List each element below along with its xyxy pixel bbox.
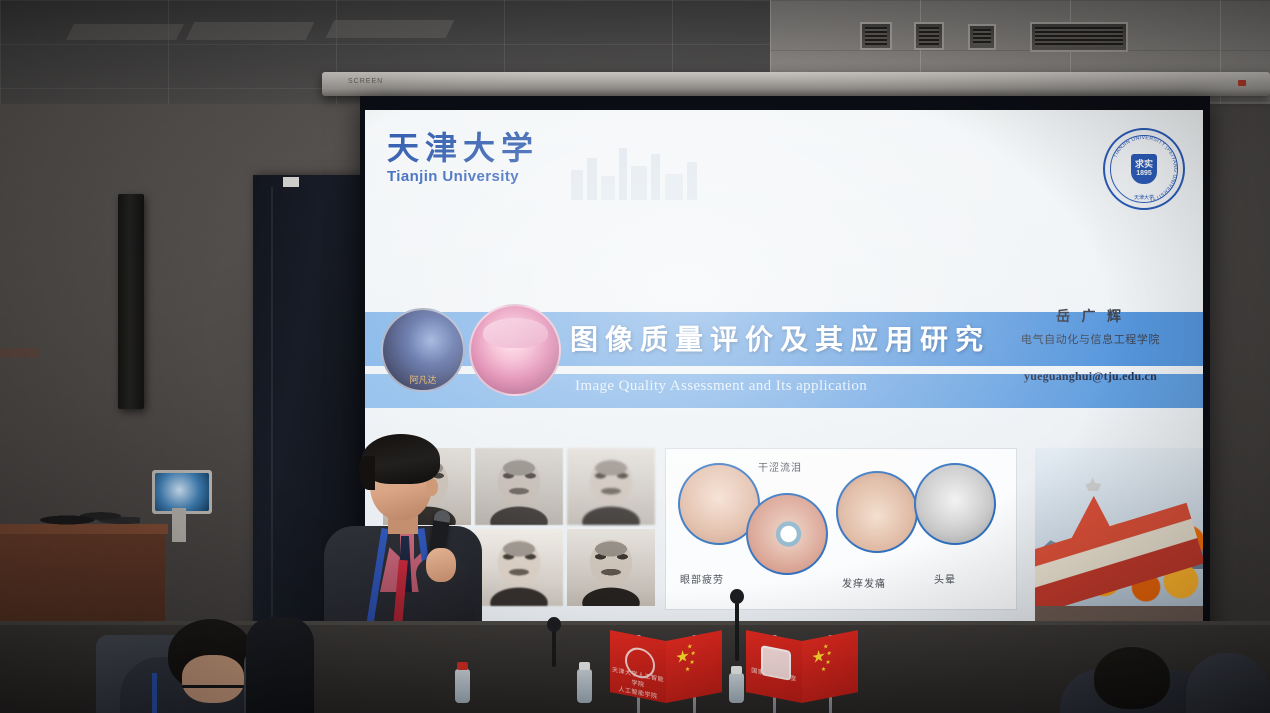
housing-indicator (1238, 80, 1246, 86)
campus-skyline-watermark (565, 140, 715, 200)
campus-roof-photo (1035, 448, 1203, 632)
audience-member-right-edge (246, 617, 314, 713)
person-hair (362, 434, 440, 484)
table-microphone-right (552, 627, 556, 667)
flag-text: 天津大学人工智能学院 人工智能学院 (610, 666, 666, 704)
eye-symptom-panel: 眼部疲劳 干涩流泪 发痒发痛 头晕 (665, 448, 1017, 610)
presenter-email: yueguanghui@tju.edu.cn (1003, 369, 1178, 384)
microphone-head (730, 589, 744, 604)
flag-star-small (821, 666, 826, 672)
desk-flag-national-1 (664, 635, 724, 713)
ceiling-vent-1 (860, 22, 892, 50)
flag-star-large (812, 649, 825, 665)
ceiling-vent-2 (914, 22, 944, 50)
wall-mark (0, 348, 40, 358)
podium-cables (36, 508, 140, 528)
svg-text:TIANJIN UNIVERSITY (PEIYANG UN: TIANJIN UNIVERSITY (PEIYANG UNIVERSITY) (1112, 135, 1178, 202)
flag-star-small (826, 659, 831, 665)
symptom-image-itching-pain (836, 471, 918, 553)
symptom-image-dizziness (914, 463, 996, 545)
flag-star-small (690, 659, 695, 665)
water-bottle-right (729, 673, 744, 703)
flag-cloth (802, 630, 858, 703)
audience-shoulders (246, 617, 314, 713)
desk-flag-institution-2: 国家重点实验室 (744, 635, 804, 713)
projection-screen-surface: 天津大学 Tianjin University TIANJIN UNIVERSI… (365, 110, 1203, 632)
university-logo: 天津大学 Tianjin University (387, 132, 539, 185)
slide-title-cn: 图像质量评价及其应用研究 (570, 318, 1020, 360)
desk-flag-national-2 (800, 635, 860, 713)
slide-title-en: Image Quality Assessment and Its applica… (575, 378, 1035, 395)
einstein-cell (475, 448, 563, 525)
flag-cloth: 国家重点实验室 (746, 630, 802, 703)
university-seal: TIANJIN UNIVERSITY (PEIYANG UNIVERSITY) … (1103, 128, 1185, 210)
flag-star-small (827, 650, 832, 656)
thumbnail-lena (469, 304, 561, 396)
einstein-cell (567, 529, 655, 606)
desk-flag-institution-1: 天津大学人工智能学院 人工智能学院 (608, 635, 668, 713)
ceiling-air-diffuser (1030, 22, 1128, 52)
panel-clip (283, 177, 299, 187)
presenter-block: 岳 广 辉 电气自动化与信息工程学院 yueguanghui@tju.edu.c… (1003, 306, 1178, 384)
ceiling-vent-3 (968, 24, 996, 50)
symptom-label-4: 头晕 (934, 571, 956, 586)
water-bottle-center (577, 669, 592, 703)
university-name-en: Tianjin University (387, 168, 539, 185)
flag-star-small (685, 666, 690, 672)
flag-star-small (687, 643, 692, 649)
ceiling-light-left (66, 24, 184, 40)
thumbnail-avatar-poster: 阿凡达 (381, 308, 465, 392)
symptom-label-2: 干涩流泪 (758, 459, 802, 474)
water-bottle-left (455, 669, 470, 703)
audience-head (1094, 647, 1170, 709)
presenter-name: 岳 广 辉 (1003, 306, 1178, 326)
einstein-cell (475, 529, 563, 606)
flag-star-small (823, 643, 828, 649)
ceiling-light-left-2 (186, 22, 315, 40)
seal-inner-cn: 天津大学 (1105, 194, 1183, 201)
wall-speaker (118, 194, 144, 409)
microphone-head (547, 617, 561, 632)
symptom-image-dry-eye (746, 493, 828, 575)
ceiling-light-left-3 (326, 20, 455, 38)
person-hand (426, 548, 456, 582)
university-name-cn: 天津大学 (387, 132, 539, 164)
presentation-photo: SCREEN 天津大学 Tianjin University (0, 0, 1270, 713)
audience-lanyard (152, 673, 157, 713)
flag-cloth (666, 630, 722, 703)
projector-screen-housing: SCREEN (322, 72, 1270, 96)
thumbnail-avatar-caption: 阿凡达 (409, 373, 436, 386)
flag-star-large (676, 649, 689, 665)
table-microphone-center (735, 599, 739, 661)
presentation-slide: 天津大学 Tianjin University TIANJIN UNIVERSI… (365, 110, 1203, 632)
panel-seam (271, 187, 273, 622)
audience-shoulders (1186, 653, 1270, 713)
audience-face (182, 655, 244, 703)
lena-hat (483, 318, 548, 348)
bottle-cap (579, 662, 590, 670)
bottle-cap (457, 662, 468, 670)
audience-member-far-right (1186, 653, 1270, 713)
presenter-department: 电气自动化与信息工程学院 (1003, 331, 1178, 347)
audience-glasses (182, 685, 244, 688)
wall-monitor-display (155, 473, 209, 511)
housing-brand-label: SCREEN (348, 78, 383, 85)
flag-star-small (691, 650, 696, 656)
symptom-label-1: 眼部疲劳 (680, 571, 724, 586)
monitor-mount (172, 508, 186, 542)
bottle-cap (731, 666, 742, 674)
flag-cloth: 天津大学人工智能学院 人工智能学院 (610, 630, 666, 703)
symptom-label-3: 发痒发痛 (842, 575, 886, 590)
einstein-cell (567, 448, 655, 525)
